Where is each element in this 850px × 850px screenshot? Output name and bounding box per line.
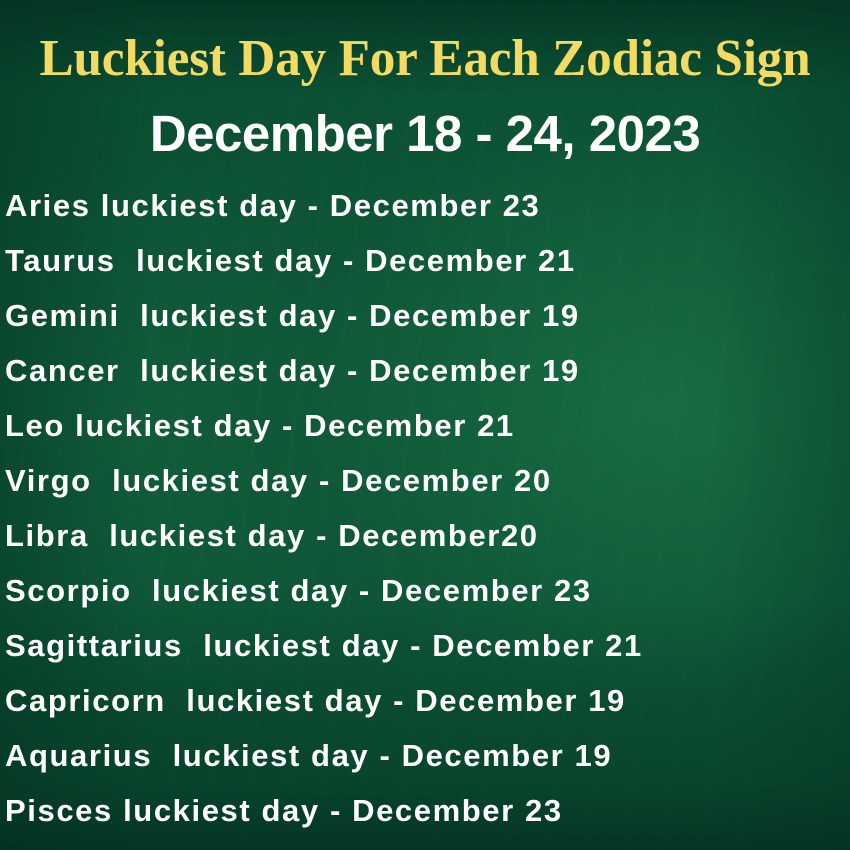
list-item: Gemini luckiest day - December 19 bbox=[5, 288, 850, 343]
list-item: Taurus luckiest day - December 21 bbox=[5, 233, 850, 288]
zodiac-luckiest-day-poster: Luckiest Day For Each Zodiac Sign Decemb… bbox=[0, 0, 850, 850]
date-range-subtitle: December 18 - 24, 2023 bbox=[0, 105, 850, 163]
list-item: Leo luckiest day - December 21 bbox=[5, 398, 850, 453]
list-item: Aquarius luckiest day - December 19 bbox=[5, 728, 850, 783]
list-item: Scorpio luckiest day - December 23 bbox=[5, 563, 850, 618]
list-item: Capricorn luckiest day - December 19 bbox=[5, 673, 850, 728]
list-item: Pisces luckiest day - December 23 bbox=[5, 783, 850, 838]
list-item: Libra luckiest day - December20 bbox=[5, 508, 850, 563]
page-title: Luckiest Day For Each Zodiac Sign bbox=[6, 30, 843, 88]
poster-content: Luckiest Day For Each Zodiac Sign Decemb… bbox=[0, 0, 850, 850]
list-item: Aries luckiest day - December 23 bbox=[5, 178, 850, 233]
list-item: Cancer luckiest day - December 19 bbox=[5, 343, 850, 398]
list-item: Virgo luckiest day - December 20 bbox=[5, 453, 850, 508]
list-item: Sagittarius luckiest day - December 21 bbox=[5, 618, 850, 673]
zodiac-list: Aries luckiest day - December 23 Taurus … bbox=[5, 178, 850, 838]
